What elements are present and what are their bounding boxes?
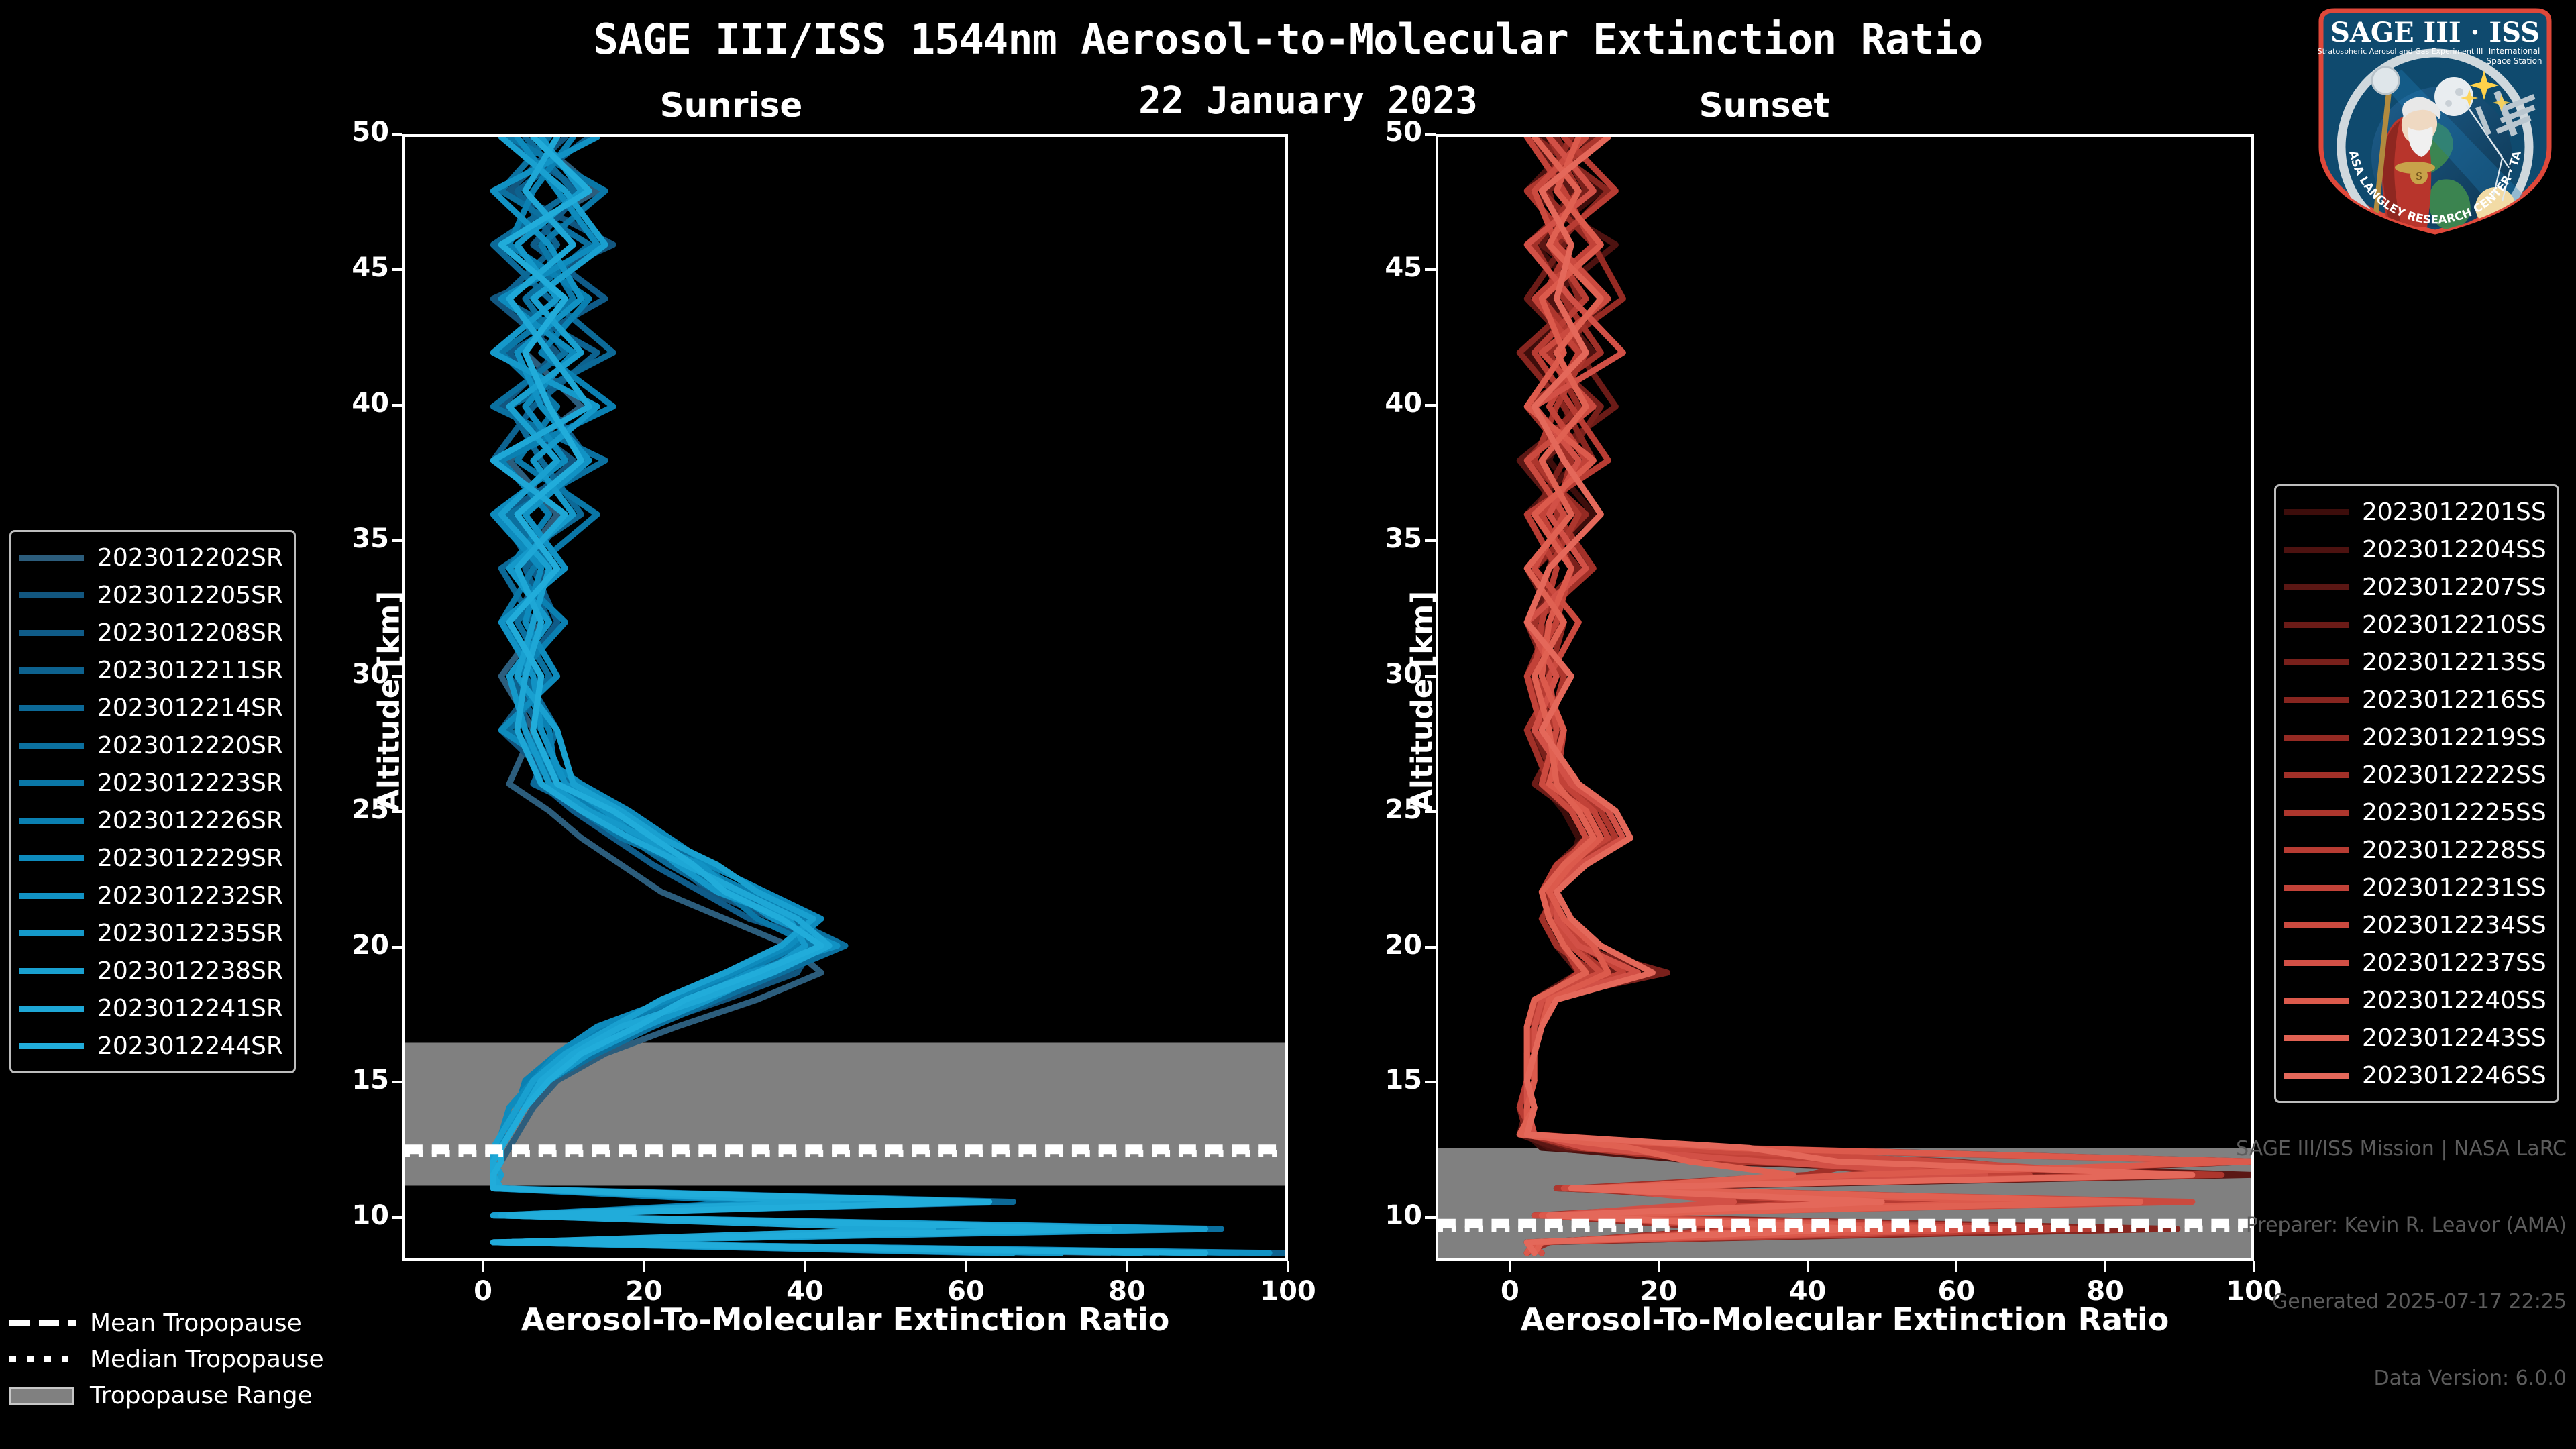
legend-color-swatch [2284, 622, 2349, 628]
plot-area-sunrise [402, 134, 1288, 1261]
y-tick-label: 15 [315, 1065, 389, 1095]
legend-item-label: 2023012204SS [2362, 536, 2546, 563]
legend-item-label: 2023012207SS [2362, 574, 2546, 601]
sunrise-profiles-svg [405, 137, 1285, 1258]
legend-item[interactable]: 2023012244SR [19, 1027, 283, 1065]
legend-color-swatch [19, 743, 84, 749]
legend-item-label: 2023012222SS [2362, 761, 2546, 789]
legend-item-label: 2023012241SR [97, 995, 283, 1022]
x-tick-label: 20 [597, 1276, 691, 1307]
legend-item[interactable]: 2023012238SR [19, 952, 283, 989]
profile-line [1527, 137, 2163, 1253]
profile-line [1527, 137, 2192, 1253]
x-tick-label: 40 [1761, 1276, 1855, 1307]
credits-line-2: Preparer: Kevin R. Leavor (AMA) [2236, 1213, 2567, 1238]
legend-item[interactable]: 2023012205SR [19, 576, 283, 614]
y-tick-label: 25 [1348, 794, 1422, 825]
x-tick-label: 40 [758, 1276, 852, 1307]
y-tick-mark [1425, 1081, 1436, 1083]
y-tick-label: 20 [315, 930, 389, 961]
legend-item[interactable]: 2023012237SS [2284, 944, 2546, 981]
sage-iii-iss-mission-patch: S SAGE III · ISS Stratospheric Aerosol a… [2301, 3, 2569, 237]
y-tick-label: 15 [1348, 1065, 1422, 1095]
legend-item[interactable]: 2023012213SS [2284, 643, 2546, 681]
plot-area-sunset [1436, 134, 2254, 1261]
patch-subtitle-right-1: International [2489, 46, 2540, 56]
figure-root: SAGE III/ISS 1544nm Aerosol-to-Molecular… [0, 0, 2576, 1449]
legend-item-label: 2023012213SS [2362, 649, 2546, 676]
y-tick-label: 50 [1348, 117, 1422, 148]
y-tick-label: 10 [1348, 1200, 1422, 1231]
y-tick-mark [1425, 675, 1436, 678]
legend-sunrise[interactable]: 2023012202SR2023012205SR2023012208SR2023… [9, 530, 296, 1073]
legend-item-label: 2023012219SS [2362, 724, 2546, 751]
profile-line [1527, 137, 2251, 1253]
legend-item[interactable]: 2023012216SS [2284, 681, 2546, 718]
legend-color-swatch [19, 930, 84, 936]
legend-item-label: 2023012205SR [97, 582, 283, 609]
gray-box-icon [9, 1387, 76, 1403]
x-tick-mark [482, 1261, 484, 1272]
x-tick-mark [965, 1261, 967, 1272]
y-tick-label: 50 [315, 117, 389, 148]
legend-label-range: Tropopause Range [90, 1382, 313, 1409]
credits-block: SAGE III/ISS Mission | NASA LaRC Prepare… [2236, 1085, 2567, 1442]
legend-item-label: 2023012231SS [2362, 874, 2546, 902]
y-tick-label: 30 [315, 659, 389, 690]
legend-item-label: 2023012238SR [97, 957, 283, 985]
x-tick-label: 80 [2058, 1276, 2152, 1307]
x-tick-label: 100 [1241, 1276, 1335, 1307]
legend-item-label: 2023012220SR [97, 732, 283, 759]
x-tick-mark [1955, 1261, 1957, 1272]
legend-color-swatch [2284, 735, 2349, 741]
x-tick-mark [804, 1261, 806, 1272]
y-tick-mark [1425, 1216, 1436, 1219]
profile-line [1519, 137, 2251, 1253]
legend-item-label: 2023012229SR [97, 845, 283, 872]
y-tick-mark [392, 1081, 402, 1083]
y-tick-mark [1425, 946, 1436, 949]
legend-color-swatch [19, 592, 84, 598]
profile-line [1527, 137, 2074, 1253]
legend-color-swatch [2284, 998, 2349, 1004]
figure-date: 22 January 2023 [1073, 79, 1543, 123]
legend-item-label: 2023012211SR [97, 657, 283, 684]
legend-color-swatch [2284, 847, 2349, 853]
legend-color-swatch [2284, 509, 2349, 515]
figure-title: SAGE III/ISS 1544nm Aerosol-to-Molecular… [0, 15, 2576, 64]
legend-item-label: 2023012225SS [2362, 799, 2546, 826]
legend-item-label: 2023012228SS [2362, 837, 2546, 864]
legend-item[interactable]: 2023012214SR [19, 689, 283, 727]
y-tick-label: 45 [315, 252, 389, 283]
y-tick-label: 10 [315, 1200, 389, 1231]
legend-item[interactable]: 2023012210SS [2284, 606, 2546, 643]
legend-color-swatch [2284, 697, 2349, 703]
legend-color-swatch [2284, 772, 2349, 778]
patch-subtitle-left: Stratospheric Aerosol and Gas Experiment… [2318, 47, 2483, 56]
y-tick-label: 25 [315, 794, 389, 825]
profile-line [1527, 137, 2222, 1253]
legend-item-tropopause-range[interactable]: Tropopause Range [9, 1377, 324, 1413]
panel-title-sunset: Sunset [1623, 86, 1905, 125]
credits-line-4: Data Version: 6.0.0 [2236, 1366, 2567, 1391]
legend-item[interactable]: 2023012241SR [19, 989, 283, 1027]
x-tick-label: 0 [436, 1276, 530, 1307]
legend-item-label: 2023012243SS [2362, 1024, 2546, 1052]
legend-item[interactable]: 2023012229SR [19, 839, 283, 877]
patch-title: SAGE III · ISS [2330, 17, 2540, 48]
profile-line [1527, 137, 2147, 1253]
legend-item[interactable]: 2023012226SR [19, 802, 283, 839]
legend-tropopause[interactable]: Mean Tropopause Median Tropopause Tropop… [9, 1305, 324, 1413]
y-tick-label: 40 [1348, 388, 1422, 419]
legend-item[interactable]: 2023012220SR [19, 727, 283, 764]
legend-color-swatch [19, 630, 84, 636]
legend-color-swatch [2284, 810, 2349, 816]
x-tick-mark [1126, 1261, 1128, 1272]
y-tick-mark [392, 675, 402, 678]
x-tick-label: 80 [1080, 1276, 1174, 1307]
y-tick-label: 20 [1348, 930, 1422, 961]
y-tick-mark [392, 1216, 402, 1219]
legend-item-label: 2023012232SR [97, 882, 283, 910]
y-tick-mark [1425, 133, 1436, 136]
x-tick-mark [1509, 1261, 1511, 1272]
legend-item-label: 2023012214SR [97, 694, 283, 722]
legend-item[interactable]: 2023012201SS [2284, 493, 2546, 531]
legend-label-mean: Mean Tropopause [90, 1309, 302, 1337]
x-tick-label: 60 [919, 1276, 1013, 1307]
legend-item[interactable]: 2023012208SR [19, 614, 283, 651]
legend-item-label: 2023012235SR [97, 920, 283, 947]
x-tick-mark [2104, 1261, 2106, 1272]
x-axis-label-right: Aerosol-To-Molecular Extinction Ratio [1436, 1301, 2254, 1338]
legend-color-swatch [19, 968, 84, 974]
credits-line-3: Generated 2025-07-17 22:25 [2236, 1289, 2567, 1315]
legend-item-label: 2023012216SS [2362, 686, 2546, 714]
legend-color-swatch [2284, 1035, 2349, 1041]
y-tick-mark [392, 404, 402, 407]
legend-item[interactable]: 2023012234SS [2284, 906, 2546, 944]
y-tick-label: 35 [315, 523, 389, 554]
profile-line [1519, 137, 2251, 1253]
legend-item[interactable]: 2023012211SR [19, 651, 283, 689]
legend-color-swatch [2284, 922, 2349, 928]
legend-item[interactable]: 2023012204SS [2284, 531, 2546, 568]
legend-color-swatch [2284, 1073, 2349, 1079]
x-tick-mark [643, 1261, 645, 1272]
x-tick-label: 60 [1909, 1276, 2003, 1307]
legend-item-label: 2023012244SR [97, 1032, 283, 1060]
y-tick-mark [392, 268, 402, 271]
legend-color-swatch [19, 1006, 84, 1012]
y-tick-mark [1425, 404, 1436, 407]
legend-item[interactable]: 2023012222SS [2284, 756, 2546, 794]
y-tick-label: 35 [1348, 523, 1422, 554]
svg-text:S: S [2416, 170, 2422, 182]
legend-color-swatch [2284, 960, 2349, 966]
profile-line [1527, 137, 2251, 1253]
legend-color-swatch [2284, 885, 2349, 891]
x-tick-label: 0 [1463, 1276, 1557, 1307]
y-tick-mark [392, 946, 402, 949]
x-tick-mark [1807, 1261, 1809, 1272]
legend-item-label: 2023012201SS [2362, 498, 2546, 526]
y-tick-mark [1425, 810, 1436, 813]
tropopause-range-band [405, 1042, 1285, 1185]
x-tick-mark [1287, 1261, 1289, 1272]
profile-line [1527, 137, 2192, 1253]
legend-item[interactable]: 2023012232SR [19, 877, 283, 914]
legend-color-swatch [19, 893, 84, 899]
legend-color-swatch [19, 667, 84, 674]
legend-color-swatch [19, 818, 84, 824]
legend-color-swatch [19, 705, 84, 711]
sunset-profiles-svg [1438, 137, 2251, 1258]
patch-subtitle-right-2: Space Station [2486, 56, 2542, 66]
legend-item-label: 2023012208SR [97, 619, 283, 647]
panel-title-sunrise: Sunrise [590, 86, 872, 125]
credits-line-1: SAGE III/ISS Mission | NASA LaRC [2236, 1136, 2567, 1162]
x-tick-mark [1658, 1261, 1660, 1272]
dotted-line-icon [9, 1351, 76, 1367]
y-tick-mark [1425, 268, 1436, 271]
legend-item-label: 2023012223SR [97, 769, 283, 797]
legend-item[interactable]: 2023012240SS [2284, 981, 2546, 1019]
legend-color-swatch [19, 780, 84, 786]
legend-item[interactable]: 2023012219SS [2284, 718, 2546, 756]
dashed-line-icon [9, 1315, 76, 1331]
y-tick-mark [392, 133, 402, 136]
legend-item[interactable]: 2023012202SR [19, 539, 283, 576]
y-tick-label: 40 [315, 388, 389, 419]
y-tick-label: 45 [1348, 252, 1422, 283]
legend-item-label: 2023012202SR [97, 544, 283, 572]
legend-color-swatch [19, 555, 84, 561]
legend-item[interactable]: 2023012235SR [19, 914, 283, 952]
legend-label-median: Median Tropopause [90, 1346, 324, 1373]
y-tick-mark [392, 810, 402, 813]
legend-item-label: 2023012237SS [2362, 949, 2546, 977]
legend-item-mean-tropopause[interactable]: Mean Tropopause [9, 1305, 324, 1341]
legend-sunset[interactable]: 2023012201SS2023012204SS2023012207SS2023… [2274, 484, 2559, 1103]
y-tick-mark [1425, 539, 1436, 542]
legend-item-label: 2023012240SS [2362, 987, 2546, 1014]
legend-item[interactable]: 2023012207SS [2284, 568, 2546, 606]
legend-item-median-tropopause[interactable]: Median Tropopause [9, 1341, 324, 1377]
legend-color-swatch [19, 855, 84, 861]
x-axis-label-left: Aerosol-To-Molecular Extinction Ratio [402, 1301, 1288, 1338]
legend-item[interactable]: 2023012225SS [2284, 794, 2546, 831]
x-tick-label: 20 [1612, 1276, 1706, 1307]
legend-item[interactable]: 2023012228SS [2284, 831, 2546, 869]
profile-line [1519, 137, 1985, 1253]
y-tick-label: 30 [1348, 659, 1422, 690]
legend-color-swatch [19, 1043, 84, 1049]
legend-item-label: 2023012234SS [2362, 912, 2546, 939]
legend-color-swatch [2284, 659, 2349, 665]
legend-color-swatch [2284, 584, 2349, 590]
legend-item-label: 2023012210SS [2362, 611, 2546, 639]
y-tick-mark [392, 539, 402, 542]
legend-item[interactable]: 2023012231SS [2284, 869, 2546, 906]
legend-item[interactable]: 2023012243SS [2284, 1019, 2546, 1057]
legend-item[interactable]: 2023012223SR [19, 764, 283, 802]
legend-item-label: 2023012226SR [97, 807, 283, 835]
legend-color-swatch [2284, 547, 2349, 553]
